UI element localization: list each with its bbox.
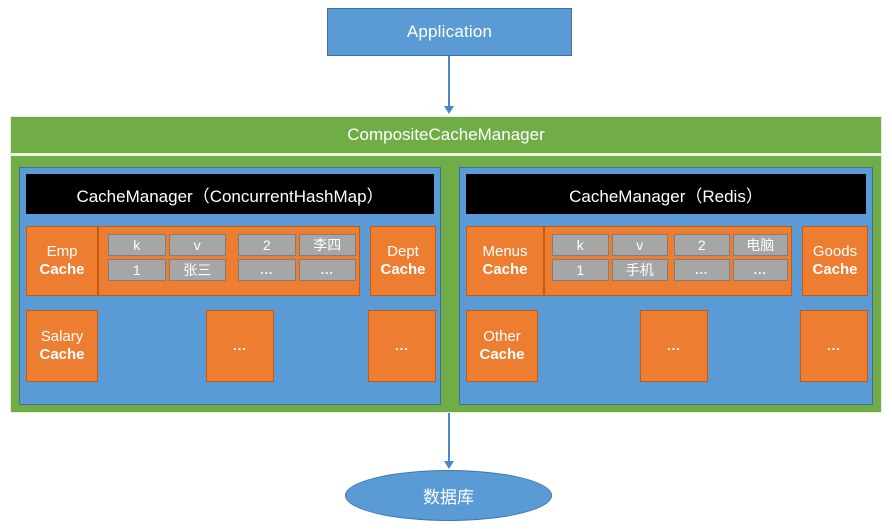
cache-box-dept: Dept Cache (370, 226, 436, 296)
cache-box-goods: Goods Cache (802, 226, 868, 296)
kv-cell: 电脑 (733, 234, 789, 256)
cache-box-salary: Salary Cache (26, 310, 98, 382)
cache-box-dept-line2: Cache (380, 261, 425, 279)
kv-cell: k (108, 234, 166, 256)
kv-cell: v (612, 234, 669, 256)
database-label: 数据库 (423, 483, 474, 508)
kv-table-emp-left: k v 1 张三 (108, 234, 226, 281)
kv-cell: 2 (238, 234, 296, 256)
cache-box-placeholder-left-2: ... (368, 310, 436, 382)
cache-placeholder-label: ... (233, 338, 247, 353)
cache-box-menus: Menus Cache (466, 226, 544, 296)
cache-box-goods-line1: Goods (813, 243, 857, 261)
composite-title-divider (11, 153, 881, 156)
diagram-canvas: Application CompositeCacheManager CacheM… (0, 0, 892, 529)
cache-box-salary-line1: Salary (41, 328, 84, 346)
cache-box-salary-line2: Cache (39, 346, 84, 364)
kv-cell: 张三 (169, 259, 227, 281)
cache-box-placeholder-right-1: ... (640, 310, 708, 382)
cache-box-emp: Emp Cache (26, 226, 98, 296)
kv-cell: 1 (552, 259, 609, 281)
cache-box-placeholder-right-2: ... (800, 310, 868, 382)
cache-box-placeholder-left-1: ... (206, 310, 274, 382)
cache-manager-header-concurrenthashmap: CacheManager（ConcurrentHashMap） (26, 174, 434, 214)
cache-box-goods-line2: Cache (812, 261, 857, 279)
cache-manager-panel-concurrenthashmap: CacheManager（ConcurrentHashMap） Emp Cach… (19, 167, 441, 405)
database-ellipse: 数据库 (345, 470, 552, 521)
arrow-composite-to-database-line (448, 413, 450, 463)
cache-box-other-line1: Other (483, 328, 521, 346)
kv-cell: k (552, 234, 609, 256)
cache-placeholder-label: ... (667, 338, 681, 353)
kv-cell: 1 (108, 259, 166, 281)
kv-cell: ... (238, 259, 296, 281)
kv-table-emp-right: 2 李四 ... ... (238, 234, 356, 281)
kv-cell: 李四 (299, 234, 357, 256)
arrow-application-to-composite-head (444, 106, 454, 114)
cache-placeholder-label: ... (827, 338, 841, 353)
kv-cell: ... (674, 259, 730, 281)
kv-cell: ... (299, 259, 357, 281)
kv-table-menus-left: k v 1 手机 (552, 234, 668, 281)
cache-box-other: Other Cache (466, 310, 538, 382)
composite-cache-manager-container: CompositeCacheManager CacheManager（Concu… (10, 116, 882, 413)
kv-cell: 手机 (612, 259, 669, 281)
application-box: Application (327, 8, 572, 56)
cache-manager-header-redis: CacheManager（Redis） (466, 174, 866, 214)
cache-box-dept-line1: Dept (387, 243, 419, 261)
arrow-composite-to-database-head (444, 461, 454, 469)
kv-cell: v (169, 234, 227, 256)
cache-box-menus-line1: Menus (482, 243, 527, 261)
kv-cell: 2 (674, 234, 730, 256)
cache-box-emp-line2: Cache (39, 261, 84, 279)
cache-box-other-line2: Cache (479, 346, 524, 364)
application-label: Application (407, 22, 492, 42)
arrow-application-to-composite-line (448, 56, 450, 108)
kv-cell: ... (733, 259, 789, 281)
composite-cache-manager-title: CompositeCacheManager (11, 117, 881, 153)
cache-manager-panel-redis: CacheManager（Redis） Menus Cache k v 1 手机… (459, 167, 873, 405)
cache-box-menus-line2: Cache (482, 261, 527, 279)
cache-box-emp-line1: Emp (47, 243, 78, 261)
cache-placeholder-label: ... (395, 338, 409, 353)
kv-table-menus-right: 2 电脑 ... ... (674, 234, 788, 281)
